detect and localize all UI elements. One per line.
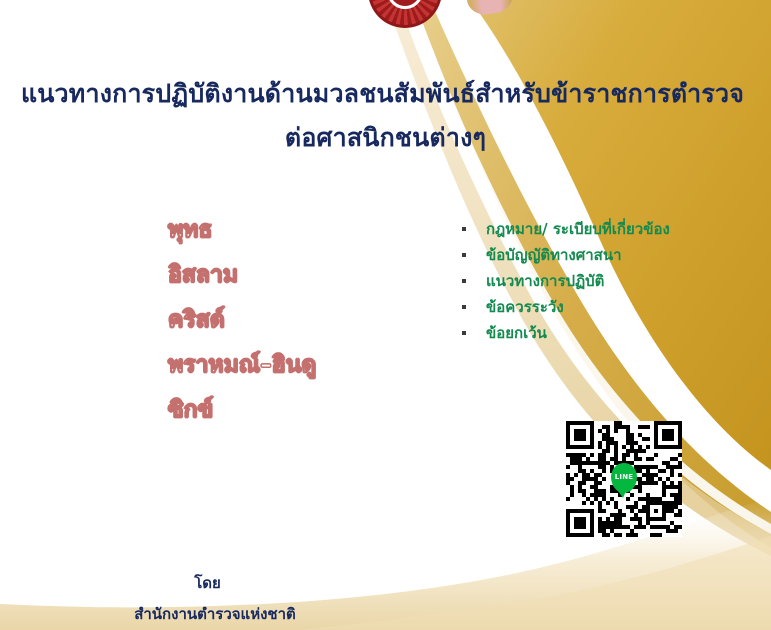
content-columns: พุทธ อิสลาม คริสต์ พราหมณ์–ฮินดู ซิกข์ ก… [0,208,771,428]
topic-label: แนวทางการปฏิบัติ [486,268,604,294]
bullet-icon [462,279,466,283]
topic-item-laws: กฎหมาย/ ระเบียบที่เกี่ยวข้อง [462,216,752,242]
religion-item-brahmin-hindu: พราหมณ์–ฮินดู [168,343,418,388]
topic-item-cautions: ข้อควรระวัง [462,294,752,320]
line-logo-label: LINE [615,473,634,481]
religions-list: พุทธ อิสลาม คริสต์ พราหมณ์–ฮินดู ซิกข์ [168,208,418,433]
footer: โดย สำนักงานตำรวจแห่งชาติ [0,568,771,630]
poster-canvas: แนวทางการปฏิบัติงานด้านมวลชนสัมพันธ์สำหร… [0,0,771,630]
topic-label: กฎหมาย/ ระเบียบที่เกี่ยวข้อง [486,216,670,242]
religion-item-buddhism: พุทธ [168,208,418,253]
topic-item-exceptions: ข้อยกเว้น [462,320,752,346]
gold-royal-emblem-icon [463,0,515,17]
topic-item-practice-guidelines: แนวทางการปฏิบัติ [462,268,752,294]
bullet-icon [462,253,466,257]
topic-label: ข้อยกเว้น [486,320,547,346]
topic-label: ข้อบัญญัติทางศาสนา [486,242,622,268]
religion-item-islam: อิสลาม [168,253,418,298]
bullet-icon [462,305,466,309]
title-line-1: แนวทางการปฏิบัติงานด้านมวลชนสัมพันธ์สำหร… [0,72,771,116]
topics-list: กฎหมาย/ ระเบียบที่เกี่ยวข้อง ข้อบัญญัติท… [462,216,752,346]
footer-by-label: โดย [0,568,771,599]
bullet-icon [462,227,466,231]
topic-item-religious-precepts: ข้อบัญญัติทางศาสนา [462,242,752,268]
line-qr-code-icon[interactable]: LINE [566,421,682,537]
religion-item-christianity: คริสต์ [168,298,418,343]
topic-label: ข้อควรระวัง [486,294,564,320]
footer-organization: สำนักงานตำรวจแห่งชาติ [0,599,771,630]
bullet-icon [462,331,466,335]
royal-thai-police-red-seal-icon [368,0,442,28]
religion-item-sikh: ซิกข์ [168,388,418,433]
title-line-2: ต่อศาสนิกชนต่างๆ [0,116,771,160]
page-title: แนวทางการปฏิบัติงานด้านมวลชนสัมพันธ์สำหร… [0,72,771,160]
